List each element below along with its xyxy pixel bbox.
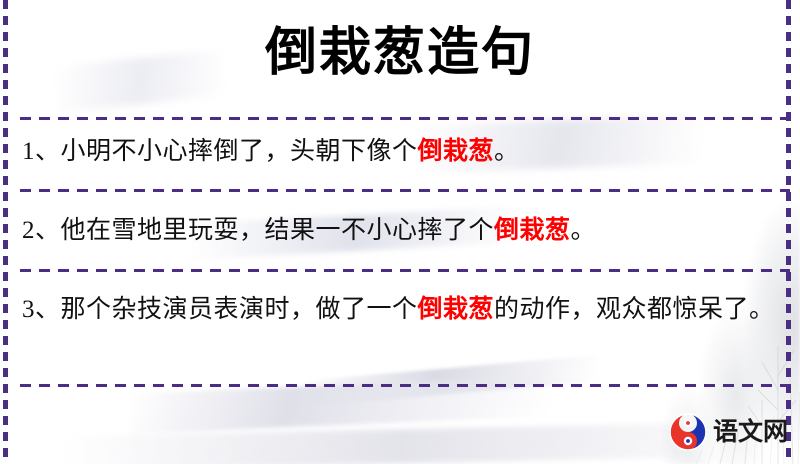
sentence-1-text-after: 。 xyxy=(494,138,520,165)
content-column: 倒栽葱造句 1、小明不小心摔倒了，头朝下像个倒栽葱。 2、他在雪地里玩耍，结果一… xyxy=(20,0,780,464)
sentence-item-3: 3、那个杂技演员表演时，做了一个倒栽葱的动作，观众都惊呆了。 xyxy=(22,288,778,332)
sentence-2-text-after: 。 xyxy=(571,217,597,244)
sentence-3-text-after: 的动作，观众都惊呆了。 xyxy=(494,296,775,323)
divider-2 xyxy=(20,189,790,192)
page-border-right xyxy=(786,0,791,464)
sentence-2-keyword: 倒栽葱 xyxy=(494,217,571,244)
sentence-1-number: 1、 xyxy=(22,138,61,165)
sentence-2-text-before: 他在雪地里玩耍，结果一不小心摔了个 xyxy=(61,217,495,244)
worksheet-page: 倒栽葱造句 1、小明不小心摔倒了，头朝下像个倒栽葱。 2、他在雪地里玩耍，结果一… xyxy=(0,0,800,464)
page-border-left xyxy=(3,0,8,464)
divider-1 xyxy=(20,117,790,120)
sentence-1-text-before: 小明不小心摔倒了，头朝下像个 xyxy=(61,138,418,165)
divider-4 xyxy=(20,384,790,387)
page-title: 倒栽葱造句 xyxy=(20,18,780,90)
site-logo[interactable]: 语文网 xyxy=(668,408,786,456)
sentence-3-keyword: 倒栽葱 xyxy=(418,296,495,323)
divider-3 xyxy=(20,269,790,272)
yin-yang-fish-icon xyxy=(668,412,708,452)
sentence-item-2: 2、他在雪地里玩耍，结果一不小心摔了个倒栽葱。 xyxy=(22,209,778,253)
sentence-3-number: 3、 xyxy=(22,296,61,323)
sentence-item-1: 1、小明不小心摔倒了，头朝下像个倒栽葱。 xyxy=(22,130,778,174)
sentence-1-keyword: 倒栽葱 xyxy=(418,138,495,165)
sentence-2-number: 2、 xyxy=(22,217,61,244)
sentence-3-text-before: 那个杂技演员表演时，做了一个 xyxy=(61,296,418,323)
site-logo-text: 语文网 xyxy=(713,420,788,445)
